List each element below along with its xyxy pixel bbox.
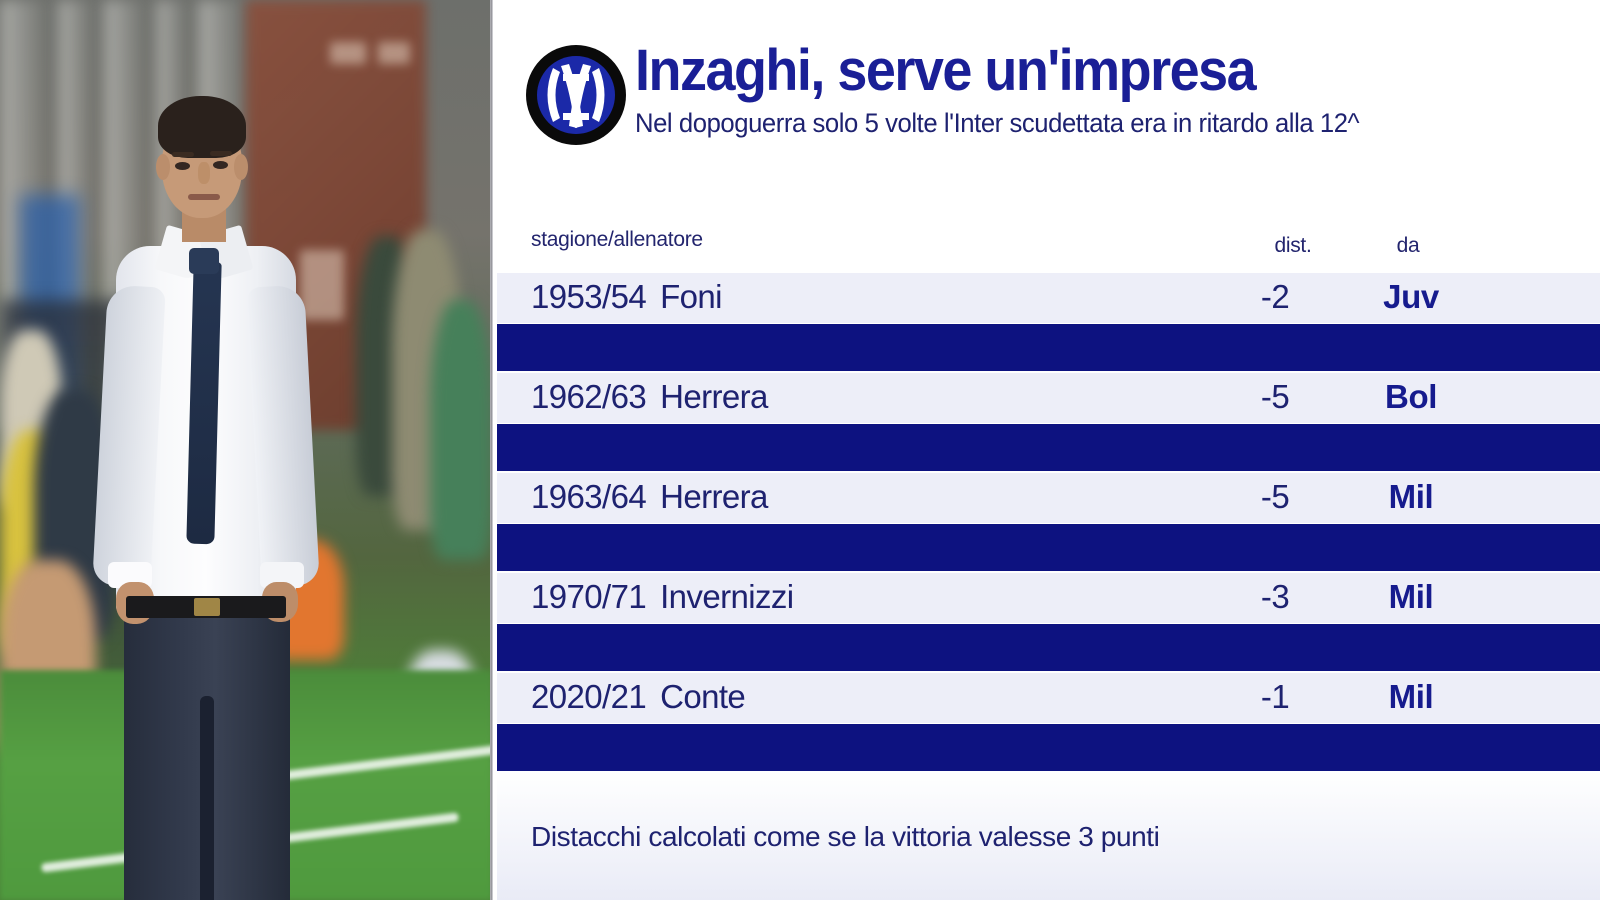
column-header-from: da (1373, 234, 1443, 258)
inter-milan-crest-icon (525, 44, 627, 146)
coach-hair (158, 96, 246, 158)
coach-figure (86, 96, 336, 900)
coach-belt-buckle (194, 598, 220, 616)
background-window (378, 42, 410, 64)
footer: Distacchi calcolati come se la vittoria … (497, 771, 1600, 900)
row-separator-bar (497, 424, 1600, 471)
cell-season-coach: 1963/64Herrera (531, 478, 768, 516)
coach-eye-right (213, 161, 228, 169)
coach-tie-knot (189, 248, 219, 274)
row-separator-bar (497, 324, 1600, 371)
cell-distance: -1 (1213, 678, 1337, 716)
cell-distance: -3 (1213, 578, 1337, 616)
page-title: Inzaghi, serve un'impresa (635, 40, 1519, 102)
coach-photo (0, 0, 492, 900)
cell-from: Juv (1349, 278, 1473, 316)
coach-mouth (188, 194, 220, 200)
cell-from: Mil (1349, 578, 1473, 616)
cell-distance: -5 (1213, 378, 1337, 416)
coach-ear-left (156, 154, 170, 180)
column-header-distance: dist. (1253, 234, 1333, 258)
table-row: 1953/54Foni -2 Juv (497, 271, 1600, 324)
column-header-season-coach: stagione/allenatore (531, 228, 703, 252)
cell-season: 1962/63 (531, 378, 646, 415)
cell-season: 2020/21 (531, 678, 646, 715)
panel-divider (490, 0, 493, 900)
table-row-group: 1962/63Herrera -5 Bol (497, 371, 1600, 471)
infographic-root: Inzaghi, serve un'impresa Nel dopoguerra… (0, 0, 1600, 900)
table-row-group: 1953/54Foni -2 Juv (497, 271, 1600, 371)
table-row: 1963/64Herrera -5 Mil (497, 471, 1600, 524)
coach-eye-left (175, 162, 190, 170)
data-panel: Inzaghi, serve un'impresa Nel dopoguerra… (493, 0, 1600, 900)
row-separator-bar (497, 624, 1600, 671)
background-person (430, 300, 492, 560)
coach-nose (198, 162, 210, 184)
cell-season: 1970/71 (531, 578, 646, 615)
table-row: 2020/21Conte -1 Mil (497, 671, 1600, 724)
table-row-group: 1963/64Herrera -5 Mil (497, 471, 1600, 571)
cell-coach: Invernizzi (660, 578, 793, 615)
cell-season-coach: 1962/63Herrera (531, 378, 768, 416)
title-block: Inzaghi, serve un'impresa Nel dopoguerra… (635, 40, 1585, 140)
table-row-group: 1970/71Invernizzi -3 Mil (497, 571, 1600, 671)
coach-eyebrow-right (210, 151, 232, 156)
cell-coach: Conte (660, 678, 745, 715)
cell-from: Bol (1349, 378, 1473, 416)
table-row-group: 2020/21Conte -1 Mil (497, 671, 1600, 771)
cell-distance: -5 (1213, 478, 1337, 516)
header: Inzaghi, serve un'impresa Nel dopoguerra… (493, 0, 1600, 180)
cell-coach: Herrera (660, 378, 768, 415)
cell-distance: -2 (1213, 278, 1337, 316)
page-subtitle: Nel dopoguerra solo 5 volte l'Inter scud… (635, 106, 1538, 140)
cell-coach: Herrera (660, 478, 768, 515)
cell-season-coach: 1953/54Foni (531, 278, 722, 316)
table-row: 1962/63Herrera -5 Bol (497, 371, 1600, 424)
cell-from: Mil (1349, 478, 1473, 516)
coach-leg-gap (200, 696, 214, 900)
cell-season-coach: 1970/71Invernizzi (531, 578, 793, 616)
table-row: 1970/71Invernizzi -3 Mil (497, 571, 1600, 624)
cell-from: Mil (1349, 678, 1473, 716)
row-separator-bar (497, 524, 1600, 571)
cell-season: 1953/54 (531, 278, 646, 315)
row-separator-bar (497, 724, 1600, 771)
records-table: 1953/54Foni -2 Juv 1962/63Herrera -5 Bol (497, 271, 1600, 771)
cell-coach: Foni (660, 278, 722, 315)
table-column-headers: stagione/allenatore dist. da (493, 228, 1600, 268)
coach-eyebrow-left (172, 152, 194, 157)
cell-season: 1963/64 (531, 478, 646, 515)
footer-note: Distacchi calcolati come se la vittoria … (531, 821, 1160, 853)
cell-season-coach: 2020/21Conte (531, 678, 745, 716)
coach-ear-right (234, 154, 248, 180)
background-window (330, 42, 366, 64)
